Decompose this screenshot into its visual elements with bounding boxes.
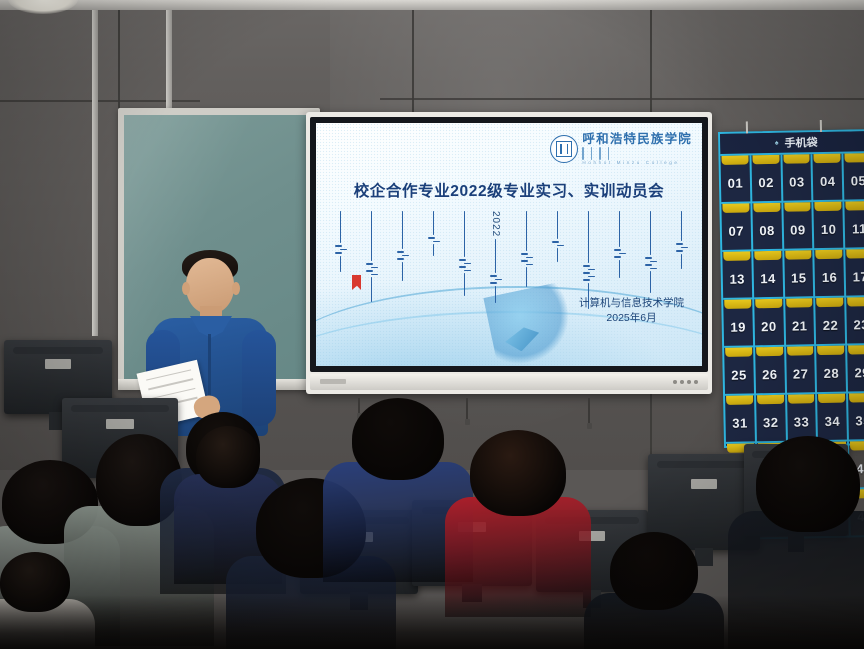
phone-pocket[interactable]: 05 bbox=[844, 153, 864, 202]
pocket-number: 17 bbox=[852, 269, 864, 284]
phone-pocket[interactable]: 20 bbox=[754, 299, 786, 348]
script-stroke bbox=[614, 249, 621, 251]
script-stroke bbox=[397, 251, 404, 253]
pocket-band bbox=[816, 250, 843, 260]
phone-pocket[interactable]: 23 bbox=[846, 297, 864, 346]
pocket-chart-title: 手机袋 bbox=[784, 134, 817, 151]
phone-pocket[interactable]: 02 bbox=[751, 155, 783, 204]
script-stem bbox=[340, 211, 342, 243]
script-stroke bbox=[614, 256, 621, 258]
script-stroke bbox=[526, 264, 533, 266]
script-stroke bbox=[583, 272, 590, 274]
ceiling-light-icon bbox=[8, 0, 78, 14]
foreground-shadow bbox=[0, 595, 864, 649]
pocket-number: 26 bbox=[762, 366, 778, 381]
script-stroke bbox=[433, 241, 440, 243]
phone-pocket[interactable]: 07 bbox=[721, 203, 753, 252]
smart-board-control-bar[interactable] bbox=[310, 374, 708, 390]
script-stem bbox=[526, 267, 528, 287]
script-stroke bbox=[521, 253, 528, 255]
student-head bbox=[470, 430, 566, 516]
pocket-number: 28 bbox=[824, 365, 840, 380]
phone-pocket[interactable]: 01 bbox=[720, 155, 752, 204]
mongolian-script-column bbox=[396, 211, 409, 281]
mongolian-script-column bbox=[551, 211, 564, 262]
mongolian-script-column bbox=[365, 211, 378, 302]
pocket-number: 11 bbox=[852, 221, 864, 236]
phone-pocket[interactable]: 03 bbox=[782, 154, 814, 203]
wall-seam bbox=[380, 98, 864, 100]
pocket-number: 03 bbox=[789, 174, 805, 189]
phone-pocket[interactable]: 17 bbox=[845, 249, 864, 298]
pocket-row: 2526272829 bbox=[724, 345, 864, 396]
slide-footer-org: 计算机与信息技术学院 bbox=[579, 296, 684, 311]
pocket-number: 16 bbox=[822, 269, 838, 284]
pocket-row: 1920212223 bbox=[723, 297, 864, 348]
script-stem bbox=[495, 239, 497, 273]
monitor-label bbox=[106, 419, 134, 429]
smart-board-brand-label bbox=[320, 379, 346, 384]
mongolian-script-column bbox=[613, 211, 626, 278]
ceiling-strip bbox=[0, 0, 864, 10]
pocket-band bbox=[754, 251, 781, 261]
phone-pocket[interactable]: 27 bbox=[786, 346, 818, 395]
mongolian-year-label: 2022 bbox=[490, 211, 501, 237]
pocket-band bbox=[723, 251, 750, 261]
monitor-vent bbox=[13, 347, 104, 354]
pocket-number: 04 bbox=[820, 173, 836, 188]
student-head bbox=[756, 436, 860, 532]
monitor-stand bbox=[695, 548, 713, 566]
presenter-ear bbox=[182, 282, 190, 295]
phone-pocket[interactable]: 28 bbox=[817, 346, 849, 395]
pocket-number: 13 bbox=[729, 271, 745, 286]
institution-logo: 呼和浩特民族学院 Hohhot Minzu College bbox=[550, 133, 692, 166]
phone-pocket[interactable]: 11 bbox=[845, 201, 864, 250]
pocket-band bbox=[784, 202, 811, 212]
pocket-number: 07 bbox=[728, 223, 744, 238]
script-stroke bbox=[366, 270, 373, 272]
classroom-photo-scene: 呼和浩特民族学院 Hohhot Minzu College 校企合作专业2022… bbox=[0, 0, 864, 649]
pocket-number: 10 bbox=[821, 221, 837, 236]
script-stroke bbox=[490, 282, 497, 284]
presentation-screen[interactable]: 呼和浩特民族学院 Hohhot Minzu College 校企合作专业2022… bbox=[316, 123, 702, 366]
pocket-band bbox=[786, 298, 813, 308]
mongolian-script-column bbox=[427, 211, 440, 256]
logo-wordmark: 呼和浩特民族学院 Hohhot Minzu College bbox=[582, 133, 692, 166]
script-stroke bbox=[588, 269, 595, 271]
script-stem bbox=[464, 211, 466, 257]
pocket-number: 22 bbox=[823, 317, 839, 332]
pocket-band bbox=[846, 201, 864, 211]
script-stroke bbox=[371, 274, 378, 276]
mongolian-script-column bbox=[644, 211, 657, 293]
script-stem bbox=[433, 244, 435, 256]
pocket-band bbox=[847, 297, 864, 307]
phone-pocket[interactable]: 22 bbox=[816, 298, 848, 347]
script-stroke bbox=[588, 276, 595, 278]
script-stem bbox=[464, 273, 466, 296]
script-stroke bbox=[428, 237, 435, 239]
pocket-chart-header: ♠ 手机袋 bbox=[720, 131, 864, 156]
pocket-chart-hanger bbox=[746, 121, 748, 133]
phone-pocket[interactable]: 19 bbox=[723, 299, 755, 348]
university-seal-icon bbox=[550, 135, 578, 163]
script-stem bbox=[619, 260, 621, 278]
mongolian-script-column bbox=[334, 211, 347, 272]
smart-board-buttons[interactable] bbox=[673, 380, 698, 384]
script-stem bbox=[526, 211, 528, 251]
pocket-number: 09 bbox=[790, 222, 806, 237]
pocket-number: 25 bbox=[731, 367, 747, 382]
pocket-number: 05 bbox=[851, 173, 864, 188]
script-stroke bbox=[335, 245, 342, 247]
mongolian-script-column bbox=[582, 211, 595, 309]
slide-footer: 计算机与信息技术学院 2025年6月 bbox=[579, 296, 684, 326]
logo-mongolian-script-icon bbox=[582, 147, 692, 160]
script-stroke bbox=[676, 250, 683, 252]
pocket-band bbox=[756, 347, 783, 357]
phone-pocket[interactable]: 14 bbox=[753, 251, 785, 300]
script-stem bbox=[557, 211, 559, 239]
pocket-band bbox=[755, 299, 782, 309]
presenter-ear bbox=[232, 282, 240, 295]
script-stroke bbox=[650, 268, 657, 270]
pocket-band bbox=[817, 298, 844, 308]
logo-institution-cn: 呼和浩特民族学院 bbox=[582, 133, 692, 146]
pocket-band bbox=[814, 154, 841, 164]
pocket-band bbox=[725, 347, 752, 357]
pocket-band bbox=[752, 155, 779, 165]
pocket-band bbox=[815, 202, 842, 212]
pocket-band bbox=[783, 154, 810, 164]
script-stem bbox=[371, 277, 373, 302]
mongolian-script-column bbox=[520, 211, 533, 287]
wall-panel-edge bbox=[166, 0, 172, 110]
monitor-label bbox=[45, 359, 71, 369]
mongolian-script-column bbox=[675, 211, 688, 269]
script-stem bbox=[681, 211, 683, 241]
script-stroke bbox=[557, 245, 564, 247]
pocket-number: 14 bbox=[760, 270, 776, 285]
audience-area bbox=[0, 392, 864, 649]
script-stroke bbox=[521, 260, 528, 262]
board-button-volume-icon[interactable] bbox=[694, 380, 698, 384]
script-stroke bbox=[366, 263, 373, 265]
script-stroke bbox=[495, 279, 502, 281]
board-button-menu-icon[interactable] bbox=[687, 380, 691, 384]
script-stem bbox=[557, 248, 559, 262]
pocket-band bbox=[846, 249, 864, 259]
script-stroke bbox=[490, 275, 497, 277]
script-stem bbox=[371, 211, 373, 261]
ornament-icon: ♠ bbox=[775, 139, 779, 146]
script-stem bbox=[619, 211, 621, 247]
script-stem bbox=[402, 262, 404, 281]
pocket-number: 20 bbox=[761, 318, 777, 333]
phone-pocket[interactable]: 15 bbox=[784, 250, 816, 299]
pocket-number: 01 bbox=[727, 175, 743, 190]
pocket-band bbox=[721, 155, 748, 165]
pocket-band bbox=[724, 299, 751, 309]
mongolian-script-column bbox=[458, 211, 471, 296]
script-stroke bbox=[340, 249, 347, 251]
student-head bbox=[352, 398, 444, 480]
script-stroke bbox=[552, 241, 559, 243]
pocket-number: 08 bbox=[759, 222, 775, 237]
phone-pocket[interactable]: 29 bbox=[847, 345, 864, 394]
phone-pocket[interactable]: 26 bbox=[755, 347, 787, 396]
phone-pocket[interactable]: 21 bbox=[785, 298, 817, 347]
script-stem bbox=[495, 286, 497, 303]
wall-panel-edge bbox=[92, 6, 98, 336]
script-stem bbox=[433, 211, 435, 235]
mongolian-subtitle-block: 2022 bbox=[334, 211, 688, 297]
smart-board-bezel: 呼和浩特民族学院 Hohhot Minzu College 校企合作专业2022… bbox=[310, 117, 708, 372]
pocket-number: 02 bbox=[758, 174, 774, 189]
script-stroke bbox=[397, 258, 404, 260]
phone-pocket[interactable]: 13 bbox=[722, 251, 754, 300]
pocket-number: 21 bbox=[792, 318, 808, 333]
phone-pocket[interactable]: 16 bbox=[815, 250, 847, 299]
script-stroke bbox=[583, 279, 590, 281]
script-stroke bbox=[645, 257, 652, 259]
phone-pocket[interactable]: 09 bbox=[783, 202, 815, 251]
script-stroke bbox=[650, 261, 657, 263]
monitor-vent bbox=[71, 405, 168, 412]
script-stroke bbox=[459, 259, 466, 261]
monitor-vent bbox=[657, 461, 751, 468]
student-head bbox=[196, 426, 260, 488]
script-stem bbox=[588, 211, 590, 263]
script-stem bbox=[650, 271, 652, 293]
pocket-band bbox=[848, 345, 864, 355]
pocket-row: 1314151617 bbox=[722, 249, 864, 300]
script-stroke bbox=[335, 252, 342, 254]
phone-pocket[interactable]: 25 bbox=[724, 347, 756, 396]
logo-institution-en: Hohhot Minzu College bbox=[582, 161, 692, 166]
script-stroke bbox=[464, 263, 471, 265]
pocket-row: 0708091011 bbox=[721, 201, 864, 252]
pocket-band bbox=[785, 250, 812, 260]
pocket-number: 15 bbox=[791, 270, 807, 285]
pocket-band bbox=[722, 203, 749, 213]
script-stem bbox=[402, 211, 404, 249]
pocket-number: 19 bbox=[730, 319, 746, 334]
pocket-number: 29 bbox=[854, 365, 864, 380]
script-stroke bbox=[459, 266, 466, 268]
script-stroke bbox=[402, 255, 409, 257]
script-stroke bbox=[681, 247, 688, 249]
script-stroke bbox=[676, 243, 683, 245]
script-stem bbox=[681, 254, 683, 269]
pocket-row: 0102030405 bbox=[720, 153, 864, 204]
script-stroke bbox=[645, 264, 652, 266]
mongolian-script-column: 2022 bbox=[489, 211, 502, 303]
slide-title: 校企合作专业2022级专业实习、实训动员会 bbox=[316, 179, 702, 201]
phone-pocket[interactable]: 10 bbox=[814, 202, 846, 251]
script-stroke bbox=[583, 265, 590, 267]
script-stem bbox=[650, 211, 652, 255]
script-stem bbox=[340, 256, 342, 272]
script-stroke bbox=[619, 253, 626, 255]
pocket-band bbox=[753, 203, 780, 213]
slide-footer-date: 2025年6月 bbox=[579, 311, 684, 326]
board-button-source-icon[interactable] bbox=[680, 380, 684, 384]
pocket-band bbox=[787, 346, 814, 356]
script-stroke bbox=[371, 267, 378, 269]
smart-board[interactable]: 呼和浩特民族学院 Hohhot Minzu College 校企合作专业2022… bbox=[306, 112, 712, 394]
pocket-number: 23 bbox=[853, 317, 864, 332]
pocket-number: 27 bbox=[793, 366, 809, 381]
board-button-power-icon[interactable] bbox=[673, 380, 677, 384]
pocket-chart-hanger bbox=[820, 120, 822, 132]
script-stroke bbox=[464, 270, 471, 272]
monitor-label bbox=[691, 479, 718, 489]
script-stroke bbox=[526, 257, 533, 259]
phone-pocket[interactable]: 04 bbox=[813, 154, 845, 203]
phone-pocket[interactable]: 08 bbox=[752, 203, 784, 252]
pocket-band bbox=[845, 153, 864, 163]
pocket-band bbox=[818, 346, 845, 356]
